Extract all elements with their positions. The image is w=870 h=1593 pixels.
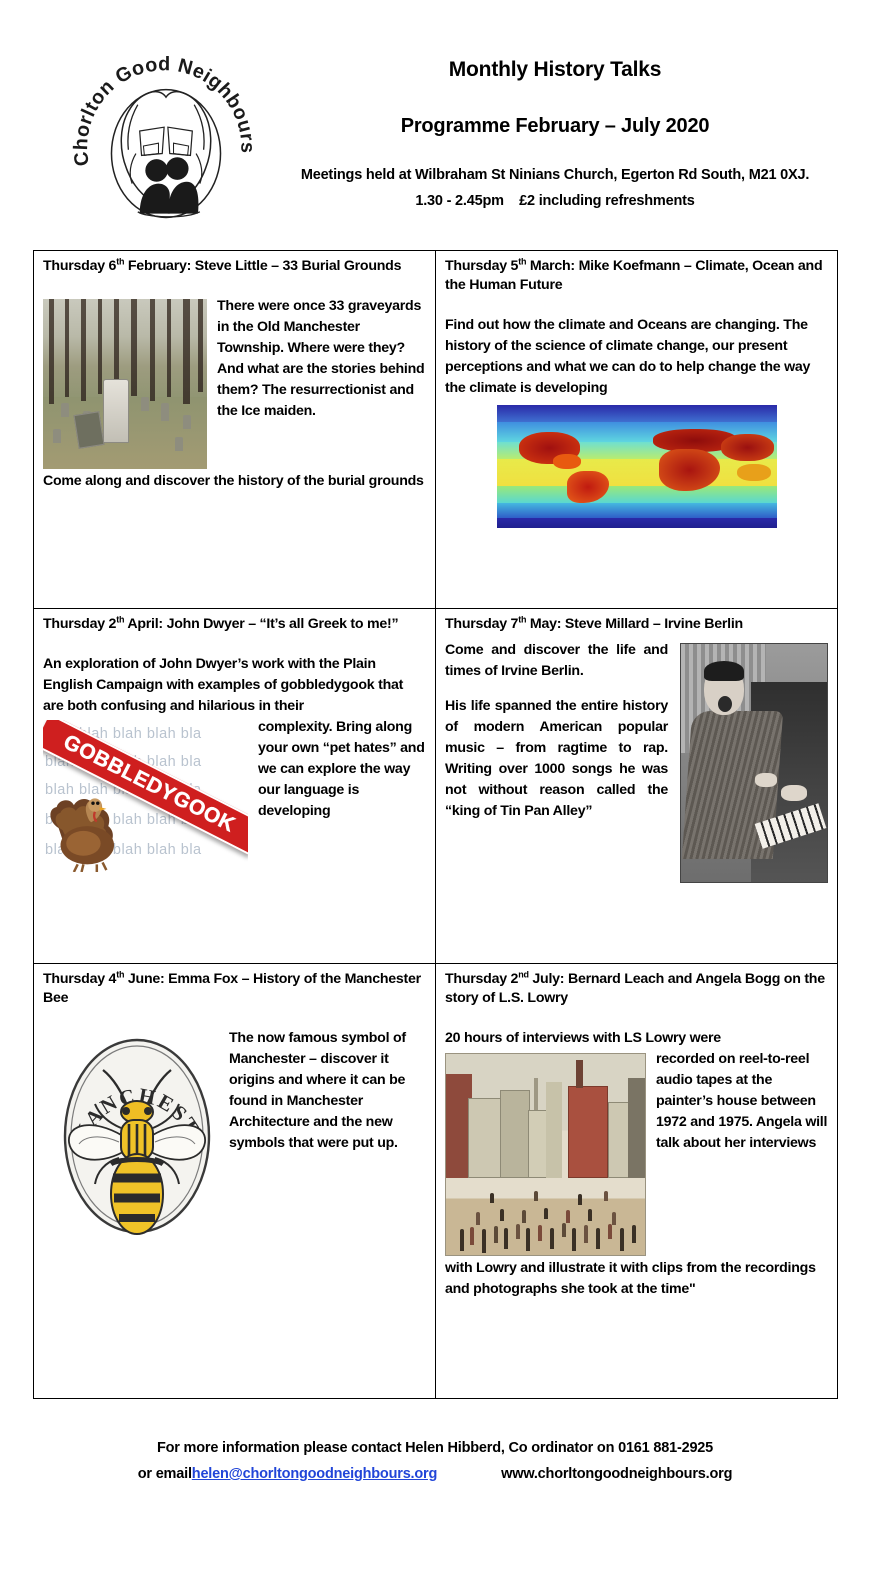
talks-table: Thursday 6th February: Steve Little – 33…: [33, 250, 838, 1399]
gobbledygook-image: blah blah blah blah bla blah blah blah b…: [43, 720, 248, 872]
talk-cell-june: Thursday 4th June: Emma Fox – History of…: [34, 964, 436, 1399]
spacer: [445, 301, 828, 315]
website-text: www.chorltongoodneighbours.org: [501, 1466, 732, 1482]
ordinal-suffix: nd: [518, 969, 529, 979]
irving-berlin-photo: [680, 643, 828, 883]
spacer: [43, 1014, 426, 1028]
talk-cell-february: Thursday 6th February: Steve Little – 33…: [34, 251, 436, 609]
header-text-block: Monthly History Talks Programme February…: [255, 58, 855, 211]
talk-body2-february: Come along and discover the history of t…: [43, 471, 426, 492]
talk-title-may: Thursday 7th May: Steve Millard – Irvine…: [445, 615, 828, 634]
talk-cell-march: Thursday 5th March: Mike Koefmann – Clim…: [436, 251, 838, 609]
talk-cell-july: Thursday 2nd July: Bernard Leach and Ang…: [436, 964, 838, 1399]
ordinal-suffix: th: [116, 256, 124, 266]
spacer: [445, 1014, 828, 1028]
talk-cell-may: Thursday 7th May: Steve Millard – Irvine…: [436, 609, 838, 964]
climate-map-image: [497, 405, 777, 528]
talk-title-march: Thursday 5th March: Mike Koefmann – Clim…: [445, 257, 828, 295]
table-row: Thursday 4th June: Emma Fox – History of…: [34, 964, 838, 1399]
table-row: Thursday 6th February: Steve Little – 33…: [34, 251, 838, 609]
page-title: Monthly History Talks: [255, 58, 855, 81]
svg-text:Chorlton Good Neighbours: Chorlton Good Neighbours: [72, 53, 258, 167]
bee-icon: MANCHESTER: [57, 1032, 217, 1240]
ordinal-suffix: th: [518, 614, 526, 624]
poster-page: Chorlton Good Neighbours: [0, 0, 870, 1593]
talk-cell-april: Thursday 2th April: John Dwyer – “It’s a…: [34, 609, 436, 964]
lowry-painting-image: [445, 1053, 646, 1256]
talk-title-april: Thursday 2th April: John Dwyer – “It’s a…: [43, 615, 426, 634]
ordinal-suffix: th: [518, 256, 526, 266]
poster-header: Chorlton Good Neighbours: [0, 0, 870, 240]
poster-footer: For more information please contact Hele…: [0, 1440, 870, 1482]
table-row: Thursday 2th April: John Dwyer – “It’s a…: [34, 609, 838, 964]
talk-body-march: Find out how the climate and Oceans are …: [445, 315, 828, 399]
turkey-icon: [45, 786, 141, 872]
talk-title-july: Thursday 2nd July: Bernard Leach and Ang…: [445, 970, 828, 1008]
time-and-price-line: 1.30 - 2.45pm £2 including refreshments: [255, 193, 855, 210]
programme-subtitle: Programme February – July 2020: [255, 115, 855, 137]
spacer: [43, 282, 426, 296]
talk-body3-july: with Lowry and illustrate it with clips …: [445, 1258, 828, 1300]
venue-line: Meetings held at Wilbraham St Ninians Ch…: [255, 167, 855, 184]
spacer: [43, 640, 426, 654]
contact-links-line: or email helen@chorltongoodneighbours.or…: [0, 1466, 870, 1482]
talk-body-july: 20 hours of interviews with LS Lowry wer…: [445, 1028, 828, 1049]
logo-icon: Chorlton Good Neighbours: [72, 52, 260, 240]
ordinal-suffix: th: [116, 969, 124, 979]
contact-line: For more information please contact Hele…: [0, 1440, 870, 1456]
cemetery-photo: [43, 299, 207, 469]
talk-title-february: Thursday 6th February: Steve Little – 33…: [43, 257, 426, 276]
email-link[interactable]: helen@chorltongoodneighbours.org: [192, 1466, 437, 1482]
manchester-bee-image: MANCHESTER: [57, 1032, 217, 1240]
talk-title-june: Thursday 4th June: Emma Fox – History of…: [43, 970, 426, 1008]
ordinal-suffix: th: [116, 614, 124, 624]
talk-body-april: An exploration of John Dwyer’s work with…: [43, 654, 426, 717]
chorlton-good-neighbours-logo: Chorlton Good Neighbours: [72, 52, 260, 240]
or-email-label: or email: [138, 1466, 192, 1482]
